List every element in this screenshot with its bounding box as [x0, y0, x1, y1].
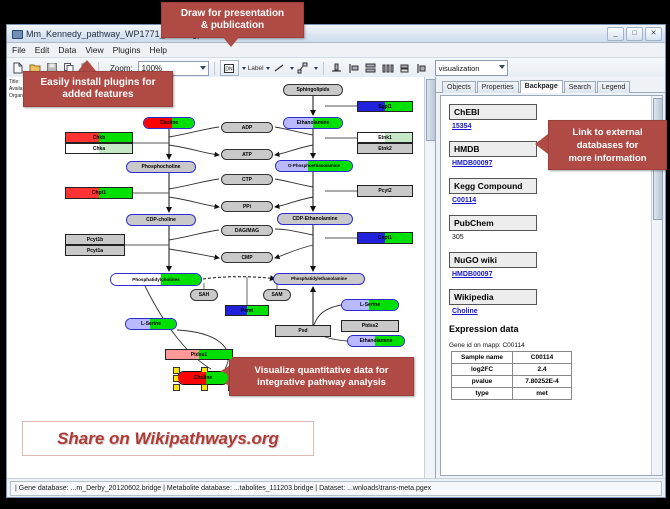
gene-label: Etnk1	[378, 135, 392, 141]
metabolite-atp[interactable]: ATP	[221, 149, 273, 160]
callout-draw-line1: Draw for presentation	[181, 8, 284, 20]
row-key: type	[452, 388, 513, 400]
row-value: met	[513, 388, 572, 400]
gene-etnk2[interactable]: Etnk2	[357, 143, 413, 154]
callout-link-arrow	[535, 134, 548, 154]
label-button[interactable]: Label	[248, 65, 270, 72]
callout-plugins: Easily install plugins for added feature…	[23, 71, 173, 107]
menu-bar: File Edit Data View Plugins Help	[7, 43, 665, 58]
db-header-nugo-wiki: NuGO wiki	[449, 252, 537, 268]
metabolite-sah[interactable]: SAH	[190, 289, 218, 301]
callout-draw: Draw for presentation & publication	[161, 2, 304, 38]
db-header-kegg-compound: Kegg Compound	[449, 178, 537, 194]
db-link-nugo-wiki[interactable]: HMDB00097	[452, 271, 653, 278]
db-header-pubchem: PubChem	[449, 215, 537, 231]
chevron-down-icon	[200, 66, 206, 70]
gene-label: Ptdss2	[362, 323, 378, 329]
gene-pcyt1b[interactable]: Pcyt1b	[65, 234, 125, 245]
datanode-icon[interactable]: DN	[220, 60, 239, 76]
node-label: L-Serine	[141, 321, 161, 327]
row-value: C00114	[513, 352, 572, 364]
line-icon[interactable]	[272, 61, 287, 76]
metabolite-cdp-ethanolamine[interactable]: CDP-Ethanolamine	[277, 213, 353, 225]
callout-draw-arrow	[222, 36, 240, 47]
metabolite-ppi[interactable]: PPi	[221, 201, 273, 212]
db-link-kegg-compound[interactable]: C00114	[452, 197, 653, 204]
gene-chpt1[interactable]: Chpt1	[65, 187, 133, 199]
gene-ptdss1[interactable]: Ptdss1	[165, 349, 233, 360]
metabolite-adp[interactable]: ADP	[221, 122, 273, 133]
menu-data[interactable]: Data	[58, 45, 76, 55]
svg-text:DN: DN	[226, 66, 234, 72]
node-label: L-Serine	[360, 302, 380, 308]
canvas-vertical-scrollbar[interactable]	[424, 77, 435, 478]
callout-link-databases: Link to external databases for more info…	[548, 120, 667, 170]
gene-label: Chkb	[93, 135, 106, 141]
gene-psd[interactable]: Psd	[275, 325, 331, 337]
gene-chkb[interactable]: Chkb	[65, 132, 133, 143]
canvas-label-available: Availa	[9, 86, 24, 93]
menu-plugins[interactable]: Plugins	[113, 45, 141, 55]
maximize-button[interactable]: □	[626, 27, 643, 41]
menu-file[interactable]: File	[12, 45, 26, 55]
gene-label: Pcyt1a	[87, 248, 103, 254]
gene-pcyt2[interactable]: Pcyt2	[357, 185, 413, 197]
metabolite-phosphocholine[interactable]: Phosphocholine	[126, 161, 196, 173]
tab-backpage[interactable]: Backpage	[520, 80, 563, 93]
tab-search[interactable]: Search	[564, 81, 596, 93]
metabolite-l-serine-left[interactable]: L-Serine	[125, 318, 177, 330]
node-label: Phosphatidylethanolamine	[291, 276, 347, 282]
gene-label: Psd	[298, 328, 307, 334]
menu-view[interactable]: View	[85, 45, 103, 55]
gene-label: Chka	[93, 146, 105, 152]
row-key: Sample name	[452, 352, 513, 364]
gene-label: Pcyt1b	[87, 237, 103, 243]
node-label: CDP-Ethanolamine	[292, 216, 337, 222]
callout-plugins-arrow	[78, 60, 96, 71]
gene-chka[interactable]: Chka	[65, 143, 133, 154]
gene-cept1[interactable]: Cept1	[357, 232, 413, 244]
db-header-hmdb: HMDB	[449, 141, 537, 157]
pathway-drawing[interactable]: Choline Sphingolipids Ethanolamine ADP	[25, 77, 435, 478]
node-label: PPi	[243, 204, 251, 210]
row-value: 2.4	[513, 364, 572, 376]
node-label: O-Phosphoethanolamine	[288, 163, 340, 169]
toolbar-separator	[214, 62, 215, 75]
share-banner: Share on Wikipathways.org	[22, 421, 314, 456]
node-label: Phosphatidylcholines	[132, 277, 179, 283]
shape-icon[interactable]	[296, 61, 311, 76]
align-middle-icon[interactable]	[363, 61, 378, 76]
db-header-chebi: ChEBI	[449, 104, 537, 120]
menu-help[interactable]: Help	[150, 45, 167, 55]
close-button[interactable]: ✕	[645, 27, 662, 41]
chevron-down-icon	[499, 65, 505, 69]
gene-id-on-mapp: Gene id on mapp: C00114	[449, 342, 653, 349]
row-key: pvalue	[452, 376, 513, 388]
stack-icon[interactable]	[397, 61, 412, 76]
share-banner-text: Share on Wikipathways.org	[57, 429, 279, 449]
table-row: Sample name C00114	[452, 352, 572, 364]
metabolite-choline-top[interactable]: Choline	[143, 117, 195, 129]
metabolite-o-phosphoethanolamine[interactable]: O-Phosphoethanolamine	[275, 160, 353, 172]
visualization-select[interactable]: visualization	[435, 60, 508, 76]
chevron-down-icon[interactable]	[290, 67, 294, 70]
node-label: ATP	[242, 152, 252, 158]
node-label: Phosphocholine	[142, 164, 181, 170]
scrollbar-thumb[interactable]	[426, 79, 436, 141]
db-link-wikipedia[interactable]: Choline	[452, 308, 653, 315]
node-label: Choline	[194, 375, 212, 381]
db-header-wikipedia: Wikipedia	[449, 289, 537, 305]
node-label: Sphingolipids	[296, 87, 329, 93]
screenshot-root: Mm_Kennedy_pathway_WP1771_45176.gpml _ □…	[0, 0, 670, 509]
metabolite-phosphatidylcholines[interactable]: Phosphatidylcholines	[110, 273, 202, 286]
row-key: log2FC	[452, 364, 513, 376]
visualization-value: visualization	[439, 64, 480, 73]
distribute-icon[interactable]	[380, 61, 395, 76]
row-value: 7.80252E-4	[513, 376, 572, 388]
metabolite-l-serine-right[interactable]: L-Serine	[341, 299, 399, 311]
pathway-canvas-panel[interactable]: Title: Availa Organi	[7, 77, 436, 478]
table-row: log2FC 2.4	[452, 364, 572, 376]
node-label: CMP	[241, 255, 252, 261]
callout-visualize: Visualize quantitative data for integrat…	[229, 357, 414, 396]
canvas-label-title: Title:	[9, 79, 24, 86]
node-label: ADP	[242, 125, 253, 131]
label-button-text: Label	[248, 65, 264, 72]
gene-label: Cept1	[378, 235, 392, 241]
chevron-down-icon[interactable]	[242, 67, 246, 70]
chevron-down-icon[interactable]	[314, 67, 318, 70]
gene-label: Pemt	[241, 308, 253, 314]
node-label: CDP-choline	[146, 217, 176, 223]
app-icon	[11, 28, 22, 39]
menu-edit[interactable]: Edit	[35, 45, 50, 55]
gene-sgpl1[interactable]: Sgpl1	[357, 101, 413, 112]
title-bar: Mm_Kennedy_pathway_WP1771_45176.gpml _ □…	[7, 25, 665, 43]
table-row: pvalue 7.80252E-4	[452, 376, 572, 388]
side-panel-tabs: Objects Properties Backpage Search Legen…	[436, 77, 665, 93]
gene-pemt[interactable]: Pemt	[225, 305, 269, 316]
metabolite-dagmag[interactable]: DAG/MAG	[221, 225, 273, 236]
gene-etnk1[interactable]: Etnk1	[357, 132, 413, 143]
gene-label: Sgpl1	[378, 104, 392, 110]
metabolite-cmp[interactable]: CMP	[221, 252, 273, 263]
node-label: Ethanolamine	[297, 120, 330, 126]
toolbar-separator	[323, 62, 324, 75]
callout-link-line3: more information	[568, 152, 646, 165]
gene-label: Ptdss1	[191, 352, 207, 358]
gene-label: Chpt1	[92, 190, 106, 196]
group-icon[interactable]	[414, 61, 429, 76]
node-label: Choline	[160, 120, 178, 126]
callout-visualize-line2: integrative pathway analysis	[257, 377, 386, 389]
callout-visualize-line1: Visualize quantitative data for	[255, 365, 389, 377]
node-label: Ethanolamine	[360, 338, 393, 344]
gene-pcyt1a[interactable]: Pcyt1a	[65, 245, 125, 256]
callout-link-line2: databases for	[577, 139, 639, 152]
callout-plugins-line2: added features	[62, 89, 133, 101]
callout-link-line1: Link to external	[572, 126, 642, 139]
metabolite-ethanolamine-lower[interactable]: Ethanolamine	[347, 335, 405, 347]
metabolite-sphingolipids[interactable]: Sphingolipids	[283, 84, 343, 96]
gene-label: Pcyt2	[378, 188, 391, 194]
callout-draw-line2: & publication	[201, 20, 264, 32]
node-label: DAG/MAG	[235, 228, 259, 234]
metabolite-sam[interactable]: SAM	[263, 289, 291, 301]
canvas-info-labels: Title: Availa Organi	[9, 79, 24, 100]
db-value-pubchem: 305	[452, 234, 653, 241]
status-text: | Gene database: ...m_Derby_20120602.bri…	[10, 481, 662, 496]
tab-legend[interactable]: Legend	[597, 81, 630, 93]
node-label: SAH	[199, 292, 210, 298]
metabolite-choline-selected[interactable]: Choline	[177, 371, 229, 385]
window-controls: _ □ ✕	[607, 27, 665, 41]
align-left-icon[interactable]	[346, 61, 361, 76]
tab-objects[interactable]: Objects	[442, 81, 476, 93]
node-label: CTP	[242, 177, 252, 183]
minimize-button[interactable]: _	[607, 27, 624, 41]
gene-ptdss2[interactable]: Ptdss2	[341, 320, 399, 332]
chevron-down-icon	[266, 67, 270, 70]
metabolite-ctp[interactable]: CTP	[221, 174, 273, 185]
metabolite-ethanolamine[interactable]: Ethanolamine	[283, 117, 343, 129]
metabolite-cdp-choline[interactable]: CDP-choline	[126, 214, 196, 226]
node-label: SAM	[271, 292, 282, 298]
status-bar: | Gene database: ...m_Derby_20120602.bri…	[7, 478, 665, 497]
metabolite-phosphatidylethanolamine[interactable]: Phosphatidylethanolamine	[273, 273, 365, 285]
table-row: type met	[452, 388, 572, 400]
callout-plugins-line1: Easily install plugins for	[40, 77, 155, 89]
expression-data-heading: Expression data	[449, 324, 653, 334]
expression-table: Sample name C00114 log2FC 2.4 pvalue 7.8…	[451, 351, 572, 400]
canvas-label-organism: Organi	[9, 93, 24, 100]
align-top-icon[interactable]	[329, 61, 344, 76]
gene-label: Etnk2	[378, 146, 392, 152]
tab-properties[interactable]: Properties	[477, 81, 519, 93]
